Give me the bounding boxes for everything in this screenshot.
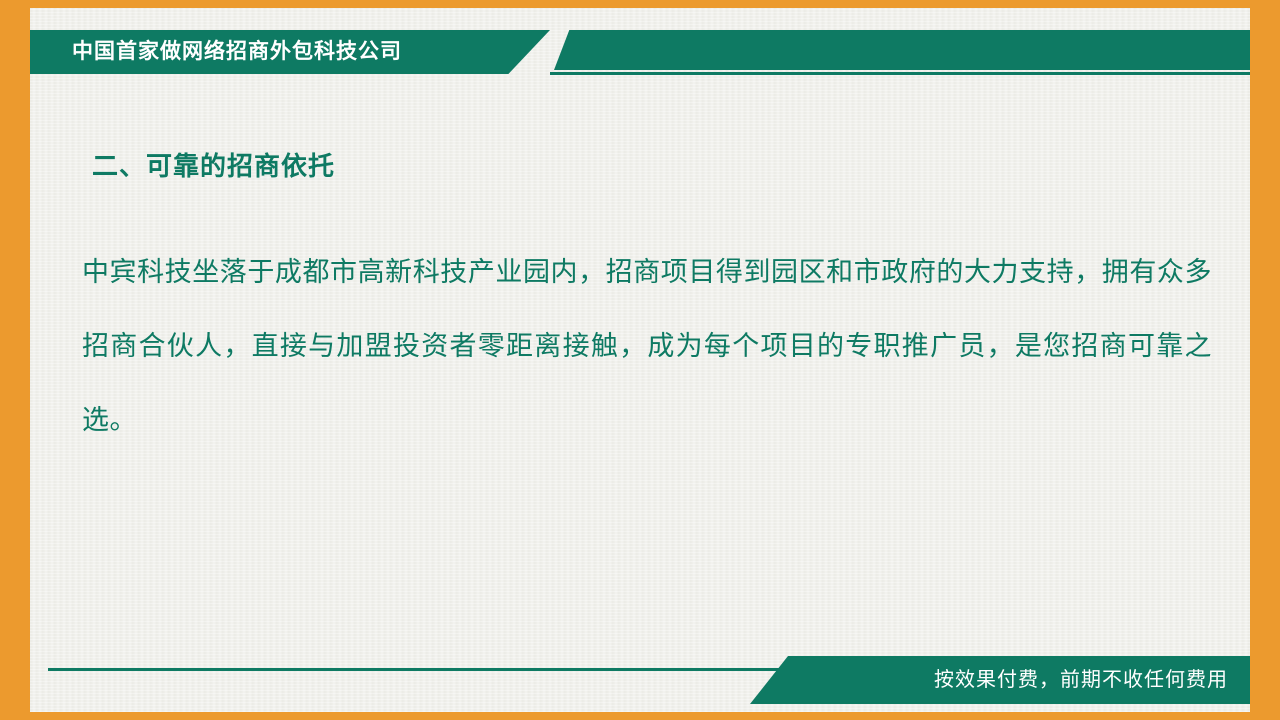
- section-heading: 二、可靠的招商依托: [92, 146, 335, 183]
- body-paragraph: 中宾科技坐落于成都市高新科技产业园内，招商项目得到园区和市政府的大力支持，拥有众…: [82, 236, 1212, 458]
- header-accent-line: [550, 72, 1250, 75]
- header-band: 中国首家做网络招商外包科技公司: [30, 30, 1250, 74]
- header-title: 中国首家做网络招商外包科技公司: [72, 30, 402, 74]
- header-banner-right-shape: [554, 30, 1250, 70]
- footer-tagline: 按效果付费，前期不收任何费用: [934, 656, 1228, 704]
- slide-paper: 中国首家做网络招商外包科技公司 二、可靠的招商依托 中宾科技坐落于成都市高新科技…: [30, 8, 1250, 712]
- footer-band: 按效果付费，前期不收任何费用: [30, 656, 1250, 704]
- footer-accent-line: [48, 668, 788, 671]
- slide-root: 中国首家做网络招商外包科技公司 二、可靠的招商依托 中宾科技坐落于成都市高新科技…: [0, 0, 1280, 720]
